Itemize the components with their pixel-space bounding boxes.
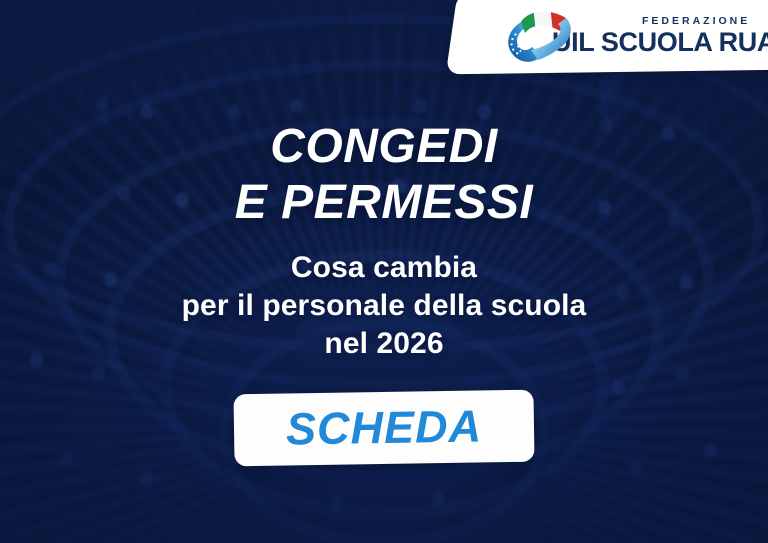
scheda-button[interactable]: SCHEDA	[233, 390, 534, 467]
subtitle-line-2: per il personale della scuola	[0, 287, 768, 325]
poster-card: FEDERAZIONE UIL SCUOLA RUA CONGEDI E PER…	[0, 0, 768, 543]
logo-text: FEDERAZIONE UIL SCUOLA RUA	[584, 16, 768, 56]
headline-line-2: E PERMESSI	[0, 175, 768, 231]
subtitle-line-3: nel 2026	[0, 325, 768, 363]
scheda-button-label: SCHEDA	[286, 400, 483, 455]
logo-name-label: UIL SCUOLA RUA	[552, 29, 768, 56]
page-subtitle: Cosa cambia per il personale della scuol…	[0, 249, 768, 363]
logo-federazione-label: FEDERAZIONE	[642, 16, 750, 27]
headline-line-1: CONGEDI	[270, 120, 498, 173]
uil-scuola-rua-ribbon-icon	[498, 6, 576, 64]
page-title: CONGEDI E PERMESSI	[0, 119, 768, 230]
logo-banner[interactable]: FEDERAZIONE UIL SCUOLA RUA	[452, 0, 768, 72]
subtitle-line-1: Cosa cambia	[0, 249, 768, 287]
